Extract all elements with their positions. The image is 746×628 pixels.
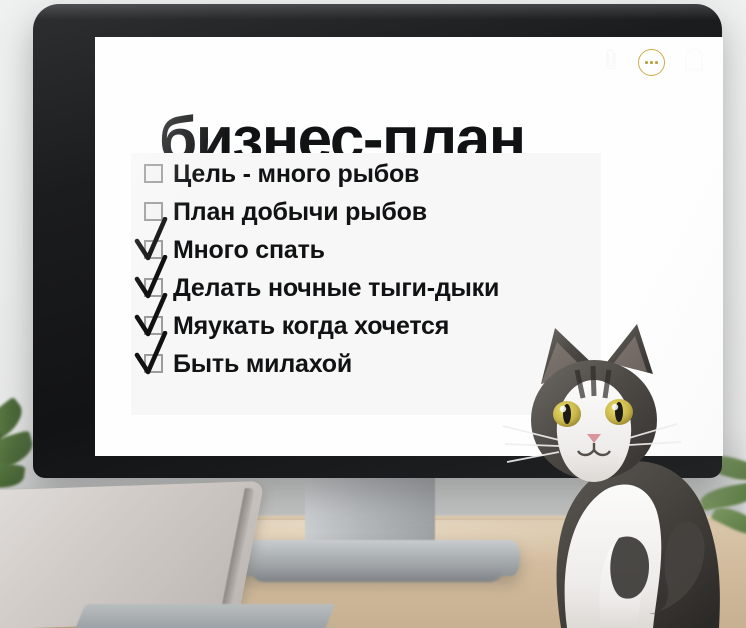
list-item[interactable]: Много спать bbox=[131, 231, 723, 269]
checkbox-checked-icon[interactable] bbox=[144, 240, 163, 259]
list-item-label: Мяукать когда хочется bbox=[173, 314, 449, 339]
photo-scene: бизнес-план Цель - много рыбов План добы… bbox=[0, 0, 746, 628]
list-item[interactable]: Цель - много рыбов bbox=[131, 155, 723, 193]
list-item-label: Быть милахой bbox=[173, 352, 352, 377]
paperclip-icon[interactable] bbox=[604, 47, 620, 78]
list-item[interactable]: План добычи рыбов bbox=[131, 193, 723, 231]
cat bbox=[497, 322, 746, 628]
checkbox-unchecked-icon[interactable] bbox=[144, 164, 163, 183]
checkbox-checked-icon[interactable] bbox=[144, 316, 163, 335]
monitor-stand-neck bbox=[305, 476, 435, 546]
checkbox-wrapper[interactable] bbox=[131, 269, 173, 307]
list-item-label: Цель - много рыбов bbox=[173, 162, 419, 187]
dot-icon bbox=[650, 61, 653, 64]
monitor-stand-foot-shadow bbox=[250, 566, 504, 582]
checkbox-unchecked-icon[interactable] bbox=[144, 202, 163, 221]
emoji-more-circle-icon[interactable] bbox=[638, 49, 665, 76]
checkbox-wrapper[interactable] bbox=[131, 231, 173, 269]
dot-icon bbox=[655, 61, 658, 64]
dot-icon bbox=[645, 61, 648, 64]
checkbox-checked-icon[interactable] bbox=[144, 354, 163, 373]
checkbox-wrapper[interactable] bbox=[131, 307, 173, 345]
list-item-label: Много спать bbox=[173, 238, 325, 263]
checkbox-checked-icon[interactable] bbox=[144, 278, 163, 297]
list-item-label: План добычи рыбов bbox=[173, 200, 427, 225]
checkbox-wrapper[interactable] bbox=[131, 345, 173, 383]
list-item[interactable]: Делать ночные тыги-дыки bbox=[131, 269, 723, 307]
checkbox-wrapper[interactable] bbox=[131, 193, 173, 231]
ghost-icon[interactable] bbox=[683, 47, 705, 78]
checkbox-wrapper[interactable] bbox=[131, 155, 173, 193]
monitor-bezel-highlight bbox=[33, 4, 722, 20]
list-item-label: Делать ночные тыги-дыки bbox=[173, 276, 499, 301]
laptop-base bbox=[75, 604, 336, 628]
document-toolbar bbox=[604, 47, 705, 78]
